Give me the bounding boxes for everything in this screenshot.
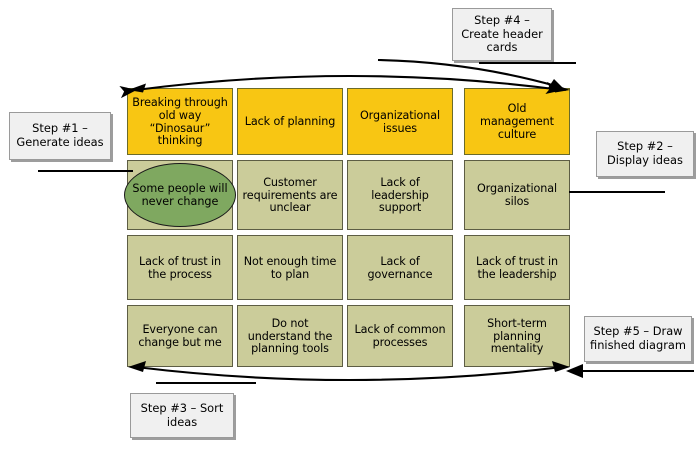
callout-step-3-label: Step #3 – Sort ideas [136,402,228,429]
header-card-label: Lack of planning [242,115,338,128]
idea-card-label: Customer requirements are unclear [242,176,338,215]
header-card-column-1[interactable]: Breaking through old way “Dinosaur” thin… [127,88,233,155]
header-card-column-3[interactable]: Organizational issues [347,88,453,155]
idea-card-label: Do not understand the planning tools [242,317,338,356]
idea-card-c4-r3[interactable]: Short-term planning mentality [464,305,570,367]
idea-card-label: Organizational silos [469,182,565,208]
idea-card-c2-r1[interactable]: Customer requirements are unclear [237,160,343,230]
idea-card-c3-r1[interactable]: Lack of leadership support [347,160,453,230]
bottom-span-arrow [136,367,562,380]
callout-step-3[interactable]: Step #3 – Sort ideas [130,393,234,438]
idea-card-label: Short-term planning mentality [469,317,565,356]
idea-card-label: Lack of governance [352,255,448,281]
callout-step-1[interactable]: Step #1 – Generate ideas [9,112,111,160]
idea-card-label: Lack of common processes [352,323,448,349]
callout-step-4-label: Step #4 – Create header cards [458,14,546,55]
step-4-arrow [378,60,556,86]
idea-card-label: Everyone can change but me [132,323,228,349]
idea-card-label: Lack of leadership support [352,176,448,215]
idea-card-c1-r2[interactable]: Lack of trust in the process [127,235,233,300]
idea-card-c1-r3[interactable]: Everyone can change but me [127,305,233,367]
idea-card-c2-r3[interactable]: Do not understand the planning tools [237,305,343,367]
idea-card-c4-r2[interactable]: Lack of trust in the leadership [464,235,570,300]
idea-card-label: Lack of trust in the leadership [469,255,565,281]
callout-step-2[interactable]: Step #2 – Display ideas [596,131,694,177]
header-card-label: Organizational issues [352,109,448,135]
idea-card-c3-r2[interactable]: Lack of governance [347,235,453,300]
callout-step-2-label: Step #2 – Display ideas [602,140,688,167]
idea-card-c2-r2[interactable]: Not enough time to plan [237,235,343,300]
header-card-column-4[interactable]: Old management culture [464,88,570,155]
idea-card-c1-r1[interactable] [127,160,233,230]
callout-step-1-label: Step #1 – Generate ideas [15,122,105,149]
callout-step-5-label: Step #5 – Draw finished diagram [590,325,686,352]
affinity-diagram-canvas: Breaking through old way “Dinosaur” thin… [0,0,700,450]
idea-card-label: Lack of trust in the process [132,255,228,281]
header-card-label: Old management culture [469,102,565,141]
callout-step-4[interactable]: Step #4 – Create header cards [452,8,552,61]
idea-card-c4-r1[interactable]: Organizational silos [464,160,570,230]
header-card-label: Breaking through old way “Dinosaur” thin… [132,96,228,148]
header-card-column-2[interactable]: Lack of planning [237,88,343,155]
callout-step-5[interactable]: Step #5 – Draw finished diagram [584,316,692,362]
idea-card-c3-r3[interactable]: Lack of common processes [347,305,453,367]
idea-card-label: Not enough time to plan [242,255,338,281]
